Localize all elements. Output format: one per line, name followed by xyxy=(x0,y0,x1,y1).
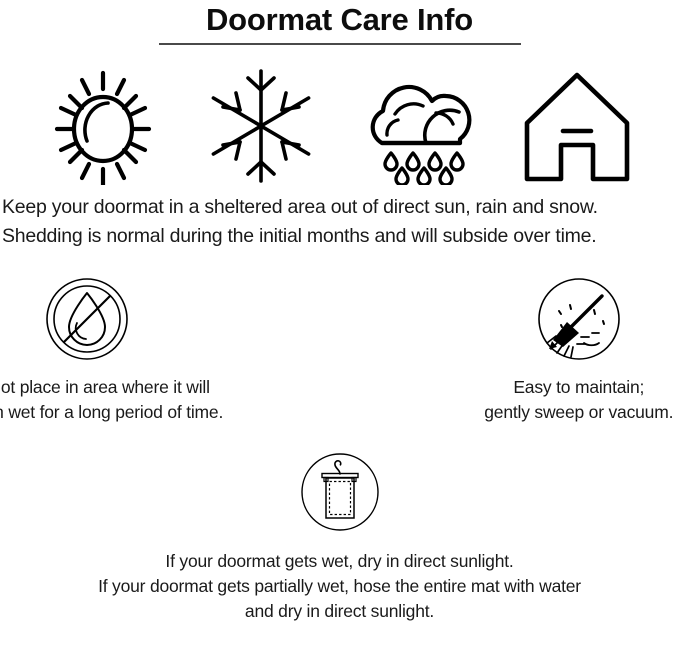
weather-cell-snowflake xyxy=(188,67,333,185)
tip-inner-sweep: Easy to maintain; gently sweep or vacuum… xyxy=(484,274,673,425)
page-header: Doormat Care Info xyxy=(0,0,679,45)
tips-section: Do not place in area where it will remai… xyxy=(0,251,679,425)
tip-caption-sweep: Easy to maintain; gently sweep or vacuum… xyxy=(484,375,673,425)
weather-icon-row xyxy=(0,45,679,185)
snowflake-icon xyxy=(211,67,311,185)
intro-paragraph: Keep your doormat in a sheltered area ou… xyxy=(0,185,679,251)
tip-column-sweep: Easy to maintain; gently sweep or vacuum… xyxy=(340,274,679,425)
tip-inner-no-water: Do not place in area where it will remai… xyxy=(0,274,223,425)
tip-caption-no-water: Do not place in area where it will remai… xyxy=(0,375,223,425)
drying-caption: If your doormat gets wet, dry in direct … xyxy=(98,549,581,624)
tip-sweep-line-2: gently sweep or vacuum. xyxy=(484,400,673,425)
rain-cloud-icon xyxy=(360,67,478,185)
drying-line-3: and dry in direct sunlight. xyxy=(98,599,581,624)
broom-icon-wrap xyxy=(484,274,673,364)
broom-icon xyxy=(537,277,621,361)
no-water-icon xyxy=(45,277,129,361)
hanging-mat-dry-icon xyxy=(300,452,380,532)
no-water-icon-wrap xyxy=(0,274,223,364)
drying-line-2: If your doormat gets partially wet, hose… xyxy=(98,574,581,599)
tip-no-water-line-1: Do not place in area where it will xyxy=(0,375,223,400)
intro-line-1: Keep your doormat in a sheltered area ou… xyxy=(2,193,677,222)
weather-cell-house xyxy=(504,67,649,185)
sun-icon xyxy=(51,67,155,185)
house-icon xyxy=(523,67,631,185)
page-title: Doormat Care Info xyxy=(0,2,679,38)
tip-column-no-water: Do not place in area where it will remai… xyxy=(0,274,340,425)
weather-cell-rain-cloud xyxy=(346,67,491,185)
hanging-mat-dry-icon-wrap xyxy=(300,447,380,537)
drying-line-1: If your doormat gets wet, dry in direct … xyxy=(98,549,581,574)
drying-section: If your doormat gets wet, dry in direct … xyxy=(0,425,679,624)
weather-cell-sun xyxy=(30,67,175,185)
intro-line-2: Shedding is normal during the initial mo… xyxy=(2,222,677,251)
tip-no-water-line-2: remain wet for a long period of time. xyxy=(0,400,223,425)
tip-sweep-line-1: Easy to maintain; xyxy=(484,375,673,400)
